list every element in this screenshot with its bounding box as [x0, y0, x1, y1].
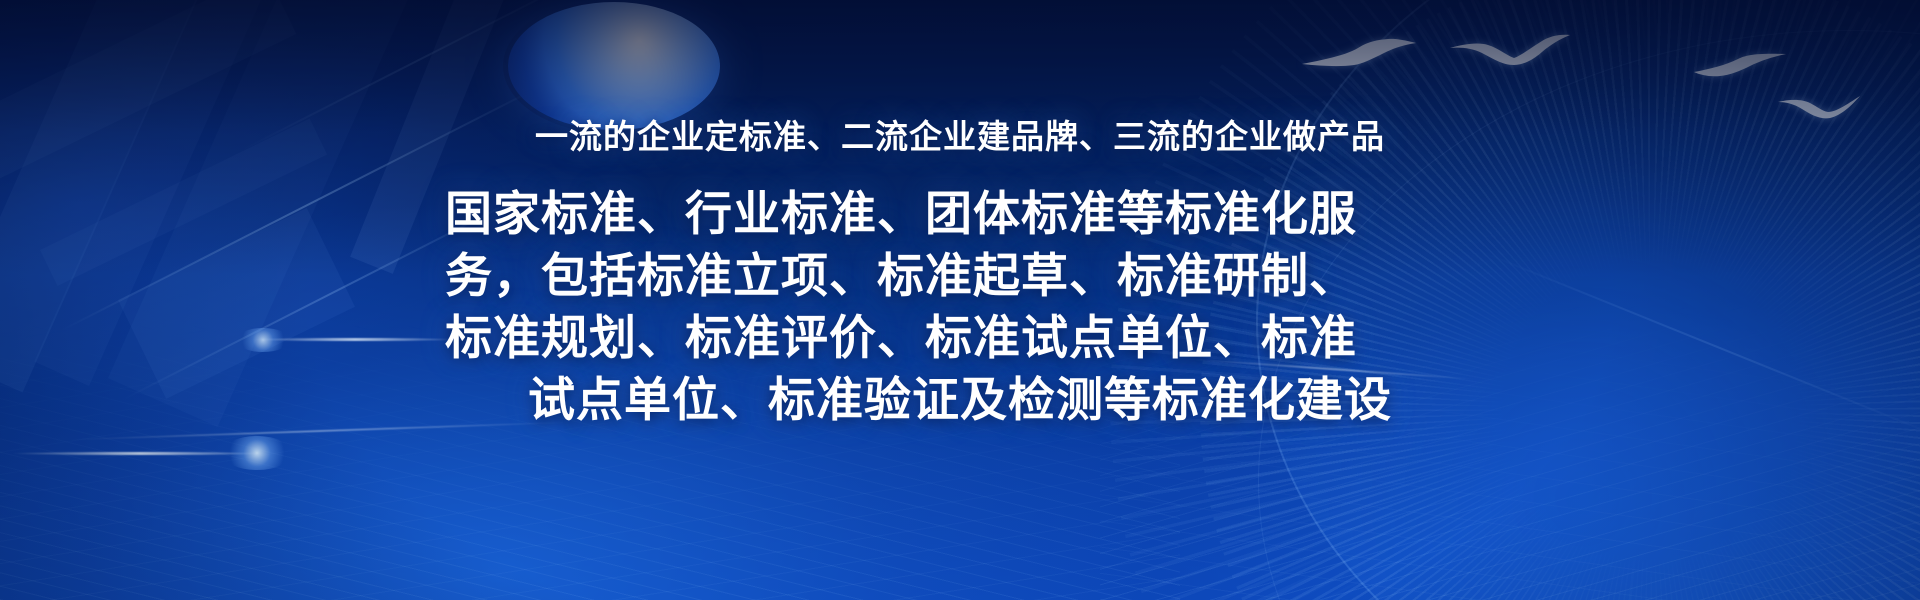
- promotional-banner: 一流的企业定标准、二流企业建品牌、三流的企业做产品 国家标准、行业标准、团体标准…: [0, 0, 1920, 600]
- body-line: 务，包括标准立项、标准起草、标准研制、: [445, 245, 1475, 307]
- body-line: 试点单位、标准验证及检测等标准化建设: [445, 369, 1475, 431]
- body-line: 国家标准、行业标准、团体标准等标准化服: [445, 183, 1475, 245]
- banner-body-copy: 国家标准、行业标准、团体标准等标准化服 务，包括标准立项、标准起草、标准研制、 …: [445, 183, 1475, 431]
- body-line: 标准规划、标准评价、标准试点单位、标准: [445, 307, 1475, 369]
- banner-headline: 一流的企业定标准、二流企业建品牌、三流的企业做产品: [0, 0, 1920, 157]
- banner-content: 一流的企业定标准、二流企业建品牌、三流的企业做产品 国家标准、行业标准、团体标准…: [0, 0, 1920, 431]
